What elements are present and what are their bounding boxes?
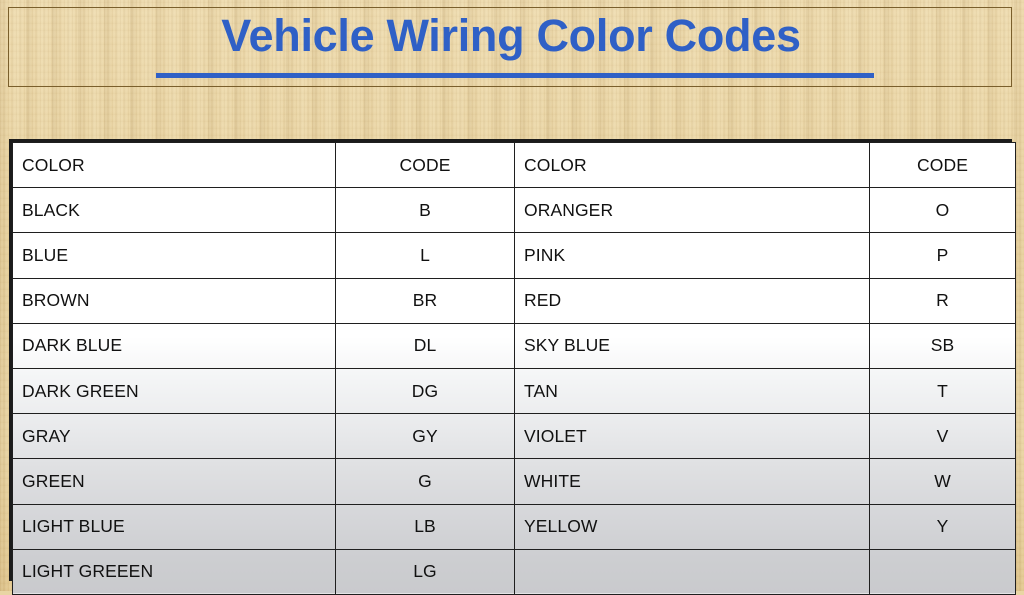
cell-code-right [870, 549, 1016, 594]
header-color-left: COLOR [13, 143, 336, 188]
table-row: GREENGWHITEW [13, 459, 1016, 504]
cell-code-right: Y [870, 504, 1016, 549]
header-code-left: CODE [336, 143, 515, 188]
cell-code-left: GY [336, 414, 515, 459]
cell-color-left: DARK GREEN [13, 368, 336, 413]
cell-code-left: G [336, 459, 515, 504]
codes-table: COLOR CODE COLOR CODE BLACKBORANGEROBLUE… [12, 142, 1016, 595]
cell-color-left: DARK BLUE [13, 323, 336, 368]
header-color-right: COLOR [515, 143, 870, 188]
cell-code-left: LG [336, 549, 515, 594]
cell-code-left: B [336, 188, 515, 233]
cell-color-left: BLUE [13, 233, 336, 278]
title-underline [156, 73, 874, 78]
table-row: BLUELPINKP [13, 233, 1016, 278]
cell-code-left: BR [336, 278, 515, 323]
cell-code-right: W [870, 459, 1016, 504]
page-title: Vehicle Wiring Color Codes [9, 10, 1013, 62]
table-row: BROWNBRREDR [13, 278, 1016, 323]
cell-code-right: O [870, 188, 1016, 233]
cell-color-right: WHITE [515, 459, 870, 504]
cell-code-right: V [870, 414, 1016, 459]
table-row: DARK GREENDGTANT [13, 368, 1016, 413]
cell-color-right: TAN [515, 368, 870, 413]
cell-code-left: L [336, 233, 515, 278]
cell-color-right: YELLOW [515, 504, 870, 549]
table-row: LIGHT GREEENLG [13, 549, 1016, 594]
header-code-right: CODE [870, 143, 1016, 188]
cell-color-right: PINK [515, 233, 870, 278]
cell-color-right: SKY BLUE [515, 323, 870, 368]
cell-color-left: LIGHT GREEEN [13, 549, 336, 594]
title-banner: Vehicle Wiring Color Codes [8, 7, 1012, 87]
cell-code-right: SB [870, 323, 1016, 368]
cell-color-left: GREEN [13, 459, 336, 504]
cell-code-left: LB [336, 504, 515, 549]
wiring-color-codes-table: COLOR CODE COLOR CODE BLACKBORANGEROBLUE… [9, 139, 1012, 581]
cell-color-left: GRAY [13, 414, 336, 459]
cell-code-left: DL [336, 323, 515, 368]
table-row: DARK BLUEDLSKY BLUESB [13, 323, 1016, 368]
cell-color-left: LIGHT BLUE [13, 504, 336, 549]
table-header-row: COLOR CODE COLOR CODE [13, 143, 1016, 188]
cell-color-right: VIOLET [515, 414, 870, 459]
cell-color-right: ORANGER [515, 188, 870, 233]
cell-code-right: P [870, 233, 1016, 278]
cell-code-right: R [870, 278, 1016, 323]
cell-color-left: BLACK [13, 188, 336, 233]
cell-color-left: BROWN [13, 278, 336, 323]
cell-code-right: T [870, 368, 1016, 413]
table-row: LIGHT BLUELBYELLOWY [13, 504, 1016, 549]
cell-code-left: DG [336, 368, 515, 413]
table-row: GRAYGYVIOLETV [13, 414, 1016, 459]
table-row: BLACKBORANGERO [13, 188, 1016, 233]
cell-color-right [515, 549, 870, 594]
cell-color-right: RED [515, 278, 870, 323]
